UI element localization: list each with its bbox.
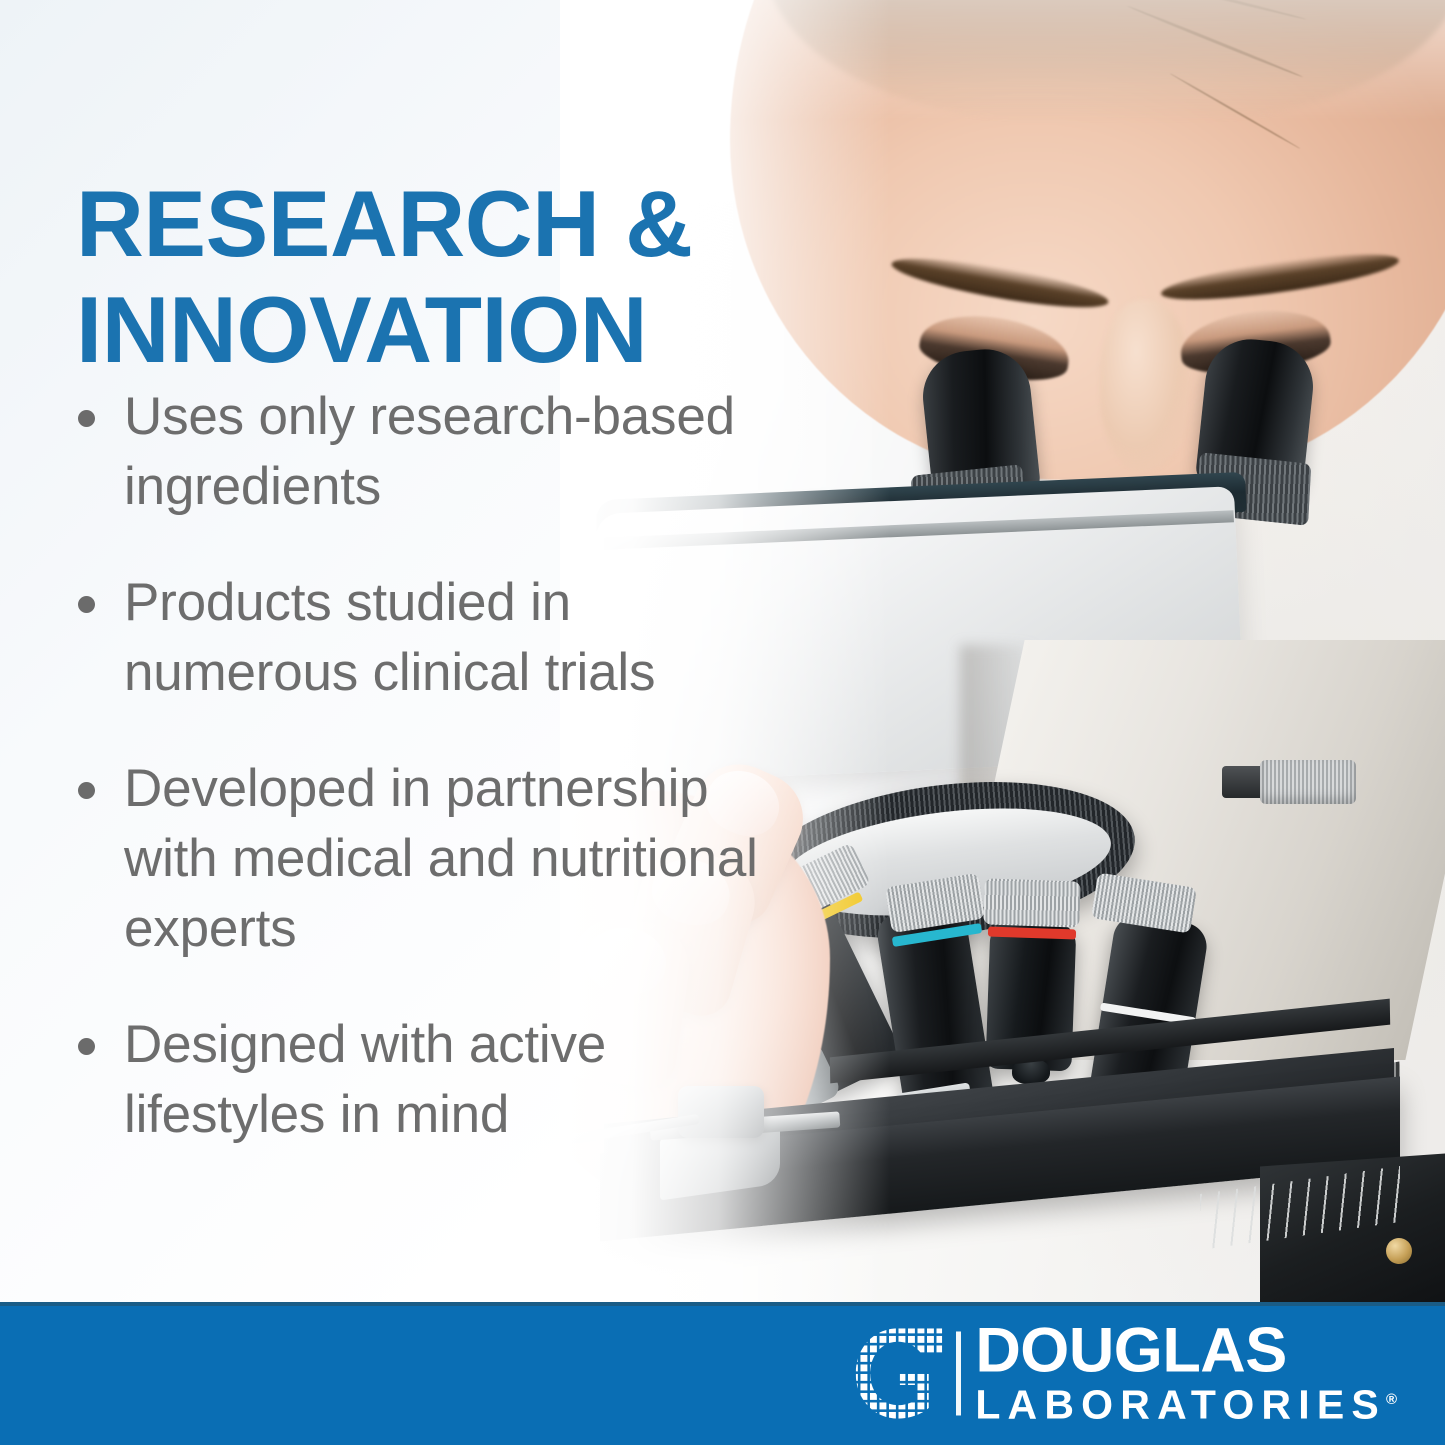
footer-top-divider xyxy=(0,1302,1445,1306)
logo-wordmark: DOUGLAS LABORATORIES® xyxy=(975,1321,1397,1426)
list-item: Designed with active lifestyles in mind xyxy=(74,1010,804,1150)
list-item-label: Developed in partnership with medical an… xyxy=(124,754,804,964)
bullet-dot-icon xyxy=(78,596,95,613)
logo-brand-secondary: LABORATORIES® xyxy=(975,1384,1397,1426)
focus-knob xyxy=(1260,760,1356,804)
bullet-dot-icon xyxy=(78,782,95,799)
list-item: Developed in partnership with medical an… xyxy=(74,754,804,964)
bullet-dot-icon xyxy=(78,1038,95,1055)
stage-brass-screw xyxy=(1386,1238,1412,1264)
list-item: Products studied in numerous clinical tr… xyxy=(74,568,804,708)
list-item: Uses only research-based ingredients xyxy=(74,382,804,522)
feature-bullet-list: Uses only research-based ingredients Pro… xyxy=(74,382,804,1196)
bullet-dot-icon xyxy=(78,410,95,427)
promo-banner: RESEARCH & INNOVATION Uses only research… xyxy=(0,0,1445,1445)
brand-footer-bar: DOUGLAS LABORATORIES® xyxy=(0,1302,1445,1445)
page-title-line-1: RESEARCH & xyxy=(76,171,796,277)
list-item-label: Uses only research-based ingredients xyxy=(124,382,804,522)
logo-brand-secondary-text: LABORATORIES xyxy=(975,1381,1386,1427)
list-item-label: Products studied in numerous clinical tr… xyxy=(124,568,804,708)
page-title-line-2: INNOVATION xyxy=(76,277,796,383)
logo-divider xyxy=(956,1332,961,1416)
objective-collar xyxy=(983,878,1081,927)
page-title: RESEARCH & INNOVATION xyxy=(76,171,796,383)
registered-trademark-icon: ® xyxy=(1386,1391,1397,1408)
douglas-g-dot-grid-mark-icon xyxy=(850,1326,946,1422)
douglas-laboratories-logo[interactable]: DOUGLAS LABORATORIES® xyxy=(850,1321,1397,1426)
nose-bridge xyxy=(1100,300,1190,470)
list-item-label: Designed with active lifestyles in mind xyxy=(124,1010,804,1150)
logo-brand-primary: DOUGLAS xyxy=(975,1321,1397,1380)
